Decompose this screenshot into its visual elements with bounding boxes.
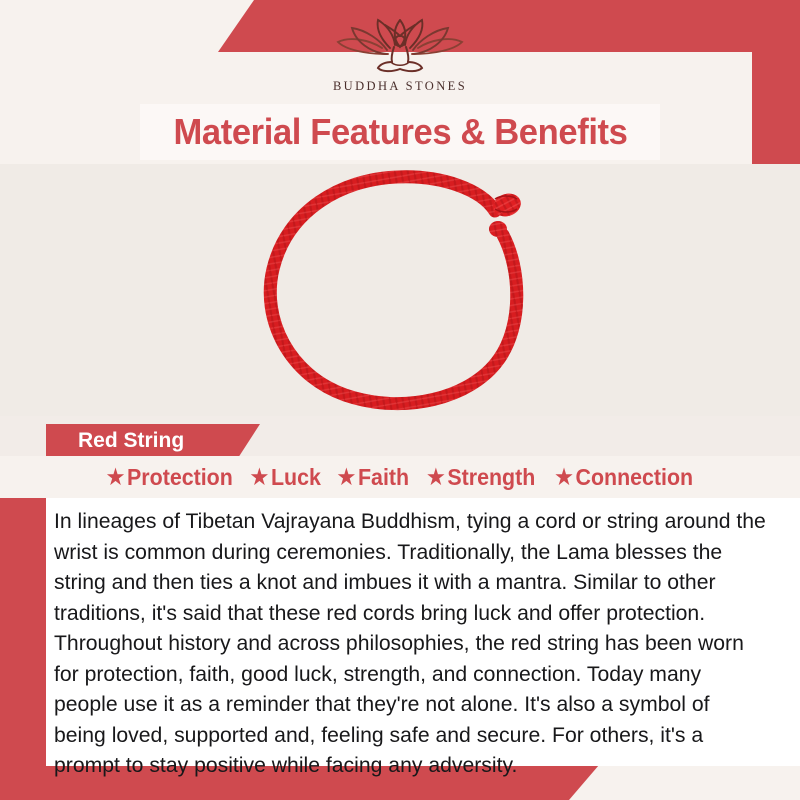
benefit-label: Faith bbox=[358, 464, 409, 491]
benefit-item-protection: ★ Protection bbox=[106, 464, 232, 491]
benefit-label: Protection bbox=[127, 464, 233, 491]
product-image-area bbox=[0, 164, 800, 416]
brand-header: BUDDHA STONES bbox=[0, 0, 800, 95]
benefit-item-luck: ★ Luck bbox=[251, 464, 321, 491]
brand-logo: BUDDHA STONES bbox=[330, 14, 470, 94]
benefit-label: Strength bbox=[447, 464, 535, 491]
title-band: Material Features & Benefits bbox=[140, 104, 660, 160]
ribbon-row: Red String bbox=[0, 416, 800, 456]
benefit-item-faith: ★ Faith bbox=[337, 464, 408, 491]
description-text: In lineages of Tibetan Vajrayana Buddhis… bbox=[54, 506, 767, 781]
benefits-list: ★ Protection ★ Luck ★ Faith ★ Strength ★… bbox=[0, 456, 800, 498]
poster-root: BUDDHA STONES Material Features & Benefi… bbox=[0, 0, 800, 800]
benefit-label: Luck bbox=[271, 464, 321, 491]
product-name-label: Red String bbox=[78, 429, 184, 453]
star-icon: ★ bbox=[427, 467, 445, 488]
lotus-meditation-icon bbox=[330, 14, 470, 76]
brand-name: BUDDHA STONES bbox=[330, 79, 470, 94]
benefit-label: Connection bbox=[575, 464, 693, 491]
description-panel: In lineages of Tibetan Vajrayana Buddhis… bbox=[46, 498, 800, 766]
star-icon: ★ bbox=[555, 467, 573, 488]
benefit-item-strength: ★ Strength bbox=[427, 464, 535, 491]
star-icon: ★ bbox=[251, 467, 269, 488]
page-title: Material Features & Benefits bbox=[173, 111, 627, 153]
benefit-item-connection: ★ Connection bbox=[555, 464, 693, 491]
red-braided-string-bracelet-icon bbox=[245, 165, 555, 415]
star-icon: ★ bbox=[337, 467, 355, 488]
star-icon: ★ bbox=[106, 467, 124, 488]
product-name-ribbon: Red String bbox=[46, 424, 260, 458]
